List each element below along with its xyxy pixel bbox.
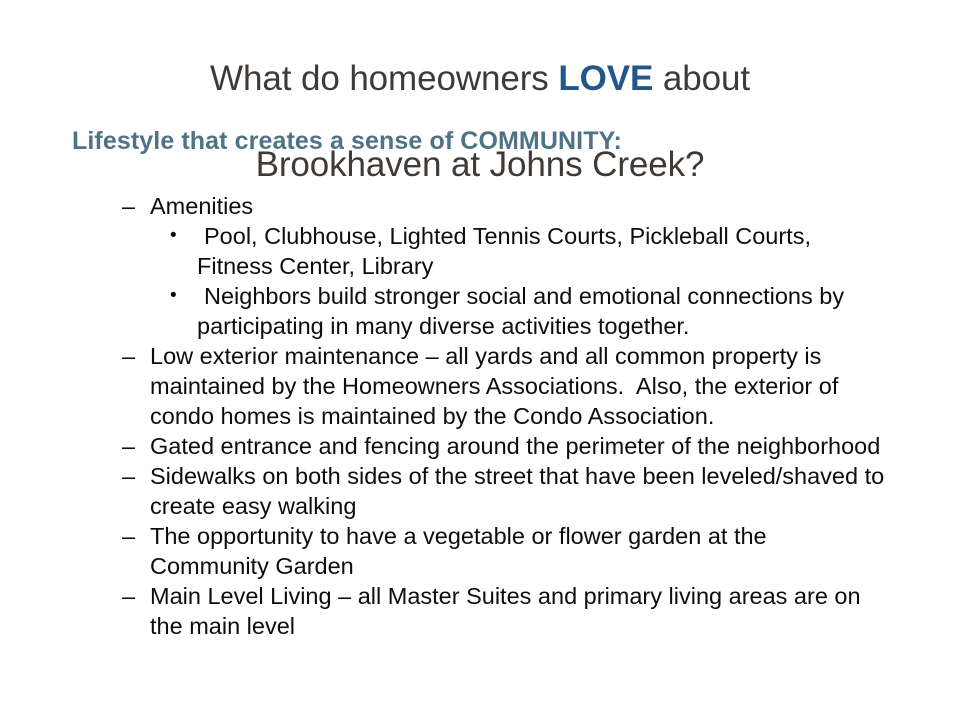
presentation-slide: What do homeowners LOVE about Brookhaven… (0, 0, 960, 720)
dash-bullet-icon: – (122, 461, 144, 491)
bullet-text: Pool, Clubhouse, Lighted Tennis Courts, … (197, 221, 890, 281)
dash-bullet-icon: – (122, 521, 144, 551)
dash-bullet-icon: – (122, 191, 144, 221)
bullet-item-level1: –The opportunity to have a vegetable or … (120, 521, 890, 581)
bullet-list: –Amenities•Pool, Clubhouse, Lighted Tenn… (120, 191, 890, 641)
bullet-text: Neighbors build stronger social and emot… (197, 281, 890, 341)
bullet-item-level1: –Amenities (120, 191, 890, 221)
bullet-item-level2: •Neighbors build stronger social and emo… (120, 281, 890, 341)
slide-subtitle: Lifestyle that creates a sense of COMMUN… (72, 126, 622, 156)
dash-bullet-icon: – (122, 341, 144, 371)
dot-bullet-icon: • (170, 281, 190, 311)
bullet-item-level1: –Gated entrance and fencing around the p… (120, 431, 890, 461)
bullet-text: Amenities (150, 191, 890, 221)
title-text-before: What do homeowners (210, 59, 558, 98)
bullet-text: Sidewalks on both sides of the street th… (150, 461, 890, 521)
title-text-after: about (653, 59, 750, 98)
bullet-item-level1: –Sidewalks on both sides of the street t… (120, 461, 890, 521)
slide-title: What do homeowners LOVE about Brookhaven… (60, 14, 900, 186)
dot-bullet-icon: • (170, 221, 190, 251)
dash-bullet-icon: – (122, 581, 144, 611)
bullet-text: Gated entrance and fencing around the pe… (150, 431, 890, 461)
bullet-item-level1: –Low exterior maintenance – all yards an… (120, 341, 890, 431)
title-highlight-love: LOVE (558, 59, 653, 98)
bullet-text: The opportunity to have a vegetable or f… (150, 521, 890, 581)
bullet-text: Low exterior maintenance – all yards and… (150, 341, 890, 431)
bullet-text: Main Level Living – all Master Suites an… (150, 581, 890, 641)
bullet-item-level1: –Main Level Living – all Master Suites a… (120, 581, 890, 641)
dash-bullet-icon: – (122, 431, 144, 461)
bullet-item-level2: •Pool, Clubhouse, Lighted Tennis Courts,… (120, 221, 890, 281)
